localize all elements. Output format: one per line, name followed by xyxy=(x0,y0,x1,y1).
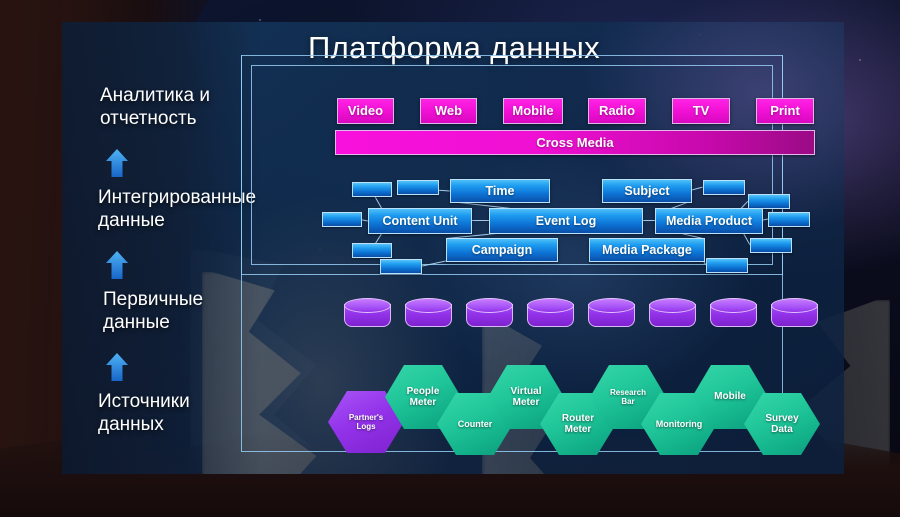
entity-stub-2[interactable] xyxy=(322,212,362,227)
entity-stub-9[interactable] xyxy=(706,258,748,273)
entity-stub-7[interactable] xyxy=(768,212,810,227)
entity-stub-8[interactable] xyxy=(750,238,792,253)
db-top xyxy=(649,298,696,313)
arrow-up-primary-icon xyxy=(105,352,129,382)
cross-media-bar[interactable]: Cross Media xyxy=(335,130,815,155)
entity-time[interactable]: Time xyxy=(450,179,550,203)
entity-event-log[interactable]: Event Log xyxy=(489,208,643,234)
media-chip-video[interactable]: Video xyxy=(337,98,394,124)
database-cylinder-6[interactable] xyxy=(710,298,757,330)
entity-media-package[interactable]: Media Package xyxy=(589,238,705,262)
entity-stub-3[interactable] xyxy=(352,243,392,258)
media-chip-web[interactable]: Web xyxy=(420,98,477,124)
entity-stub-4[interactable] xyxy=(380,259,422,274)
entity-stub-1[interactable] xyxy=(397,180,439,195)
entity-stub-0[interactable] xyxy=(352,182,392,197)
database-cylinder-1[interactable] xyxy=(405,298,452,330)
database-cylinder-3[interactable] xyxy=(527,298,574,330)
entity-content-unit[interactable]: Content Unit xyxy=(368,208,472,234)
entity-connector-5 xyxy=(470,220,489,221)
entity-subject[interactable]: Subject xyxy=(602,179,692,203)
db-top xyxy=(527,298,574,313)
entity-stub-6[interactable] xyxy=(748,194,790,209)
media-chip-print[interactable]: Print xyxy=(756,98,814,124)
arrow-up-analytics-icon xyxy=(105,148,129,178)
db-top xyxy=(344,298,391,313)
media-frame-inner xyxy=(251,65,773,265)
database-cylinder-2[interactable] xyxy=(466,298,513,330)
entity-media-product[interactable]: Media Product xyxy=(655,208,763,234)
media-chip-mobile[interactable]: Mobile xyxy=(503,98,563,124)
entity-campaign[interactable]: Campaign xyxy=(446,238,558,262)
arrow-up-integrated-icon xyxy=(105,250,129,280)
db-top xyxy=(405,298,452,313)
db-top xyxy=(588,298,635,313)
slide-canvas: Платформа данных Аналитика иотчетностьИн… xyxy=(0,0,900,517)
database-cylinder-7[interactable] xyxy=(771,298,818,330)
media-chip-tv[interactable]: TV xyxy=(672,98,730,124)
db-top xyxy=(466,298,513,313)
database-cylinder-5[interactable] xyxy=(649,298,696,330)
db-top xyxy=(771,298,818,313)
database-cylinder-4[interactable] xyxy=(588,298,635,330)
db-top xyxy=(710,298,757,313)
entity-connector-8 xyxy=(641,220,655,221)
entity-stub-5[interactable] xyxy=(703,180,745,195)
database-cylinder-0[interactable] xyxy=(344,298,391,330)
media-chip-radio[interactable]: Radio xyxy=(588,98,646,124)
